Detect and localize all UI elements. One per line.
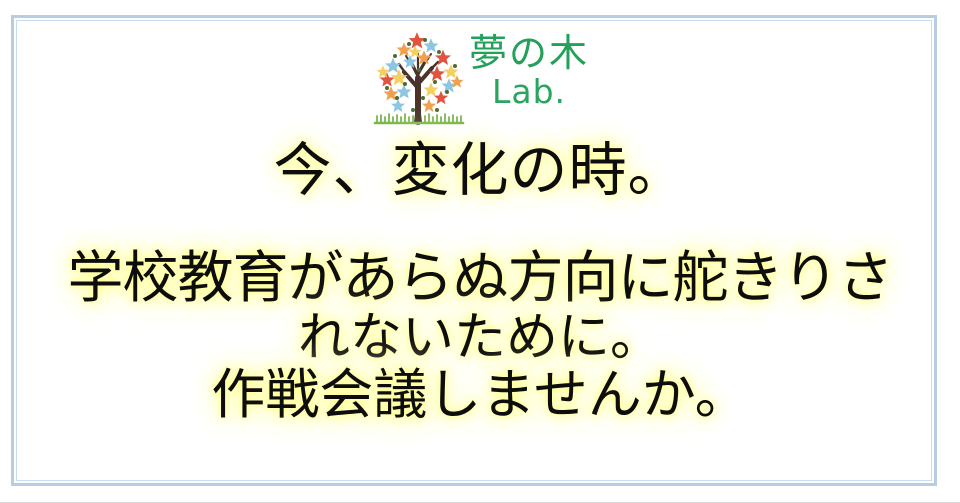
slide-canvas: 夢の木 Lab. 今、変化の時。 学校教育があらぬ方向に舵きりさ れないために。…: [0, 0, 960, 503]
slide-headline: 今、変化の時。: [0, 136, 960, 204]
logo-title-jp: 夢の木: [469, 32, 589, 74]
body-line-1: 学校教育があらぬ方向に舵きりさ: [0, 248, 960, 310]
dream-tree-logo-icon: [371, 22, 467, 134]
logo-wordmark: 夢の木 Lab.: [469, 22, 589, 110]
body-line-3: 作戦会議しませんか。: [0, 366, 960, 424]
logo-title-en: Lab.: [469, 74, 589, 110]
logo-block: 夢の木 Lab.: [0, 22, 960, 137]
body-line-2: れないために。: [0, 310, 960, 366]
slide-body-text: 学校教育があらぬ方向に舵きりさ れないために。 作戦会議しませんか。: [0, 248, 960, 424]
